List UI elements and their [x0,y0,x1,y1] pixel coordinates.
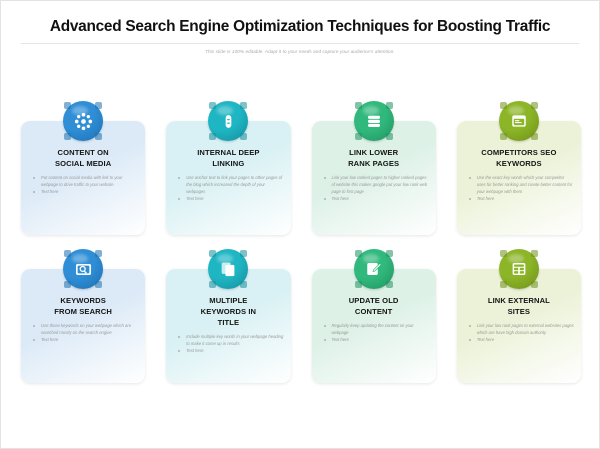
card-title-line: LINKING [173,158,283,169]
badge-glyph [208,101,248,141]
card-bullet-list: Use those keywords on your webpage which… [28,323,138,344]
card-title-line: INTERNAL DEEP [173,147,283,158]
card-bullet: Include multiple key words in your webpa… [176,334,283,348]
card-bullet: Text here [322,196,429,203]
card-title: UPDATE OLDCONTENT [319,295,429,317]
card-title: MULTIPLEKEYWORDS INTITLE [173,295,283,328]
card-bullet: Use those keywords on your webpage which… [31,323,138,337]
slide-header: Advanced Search Engine Optimization Tech… [1,1,599,54]
technique-cell: MULTIPLEKEYWORDS INTITLE Include multipl… [160,249,296,397]
card-bullet-list: Link your low ranked pages to higher ran… [319,175,429,203]
card-title-line: KEYWORDS [464,158,574,169]
social-network-icon[interactable] [63,101,103,141]
card-bullet-list: Regularly keep updating the content on y… [319,323,429,344]
external-site-icon[interactable] [499,249,539,289]
card-title-line: LINK EXTERNAL [464,295,574,306]
badge-glyph [63,101,103,141]
browser-window-icon[interactable] [499,101,539,141]
card-title-line: TITLE [173,317,283,328]
copy-documents-icon[interactable] [208,249,248,289]
badge-glyph [354,101,394,141]
technique-cell: KEYWORDSFROM SEARCH Use those keywords o… [15,249,151,397]
technique-cell: LINK LOWERRANK PAGES Link your low ranke… [306,101,442,249]
card-title-line: SITES [464,306,574,317]
header-divider [21,43,579,44]
slide-canvas: Advanced Search Engine Optimization Tech… [0,0,600,449]
chain-link-icon[interactable] [208,101,248,141]
card-title-line: MULTIPLE [173,295,283,306]
card-bullet-list: Use the exact key words which your compe… [464,175,574,203]
stacked-pages-icon[interactable] [354,101,394,141]
card-bullet-list: Link your low rank pages to external web… [464,323,574,344]
page-title: Advanced Search Engine Optimization Tech… [15,19,585,36]
technique-cell: LINK EXTERNALSITES Link your low rank pa… [451,249,587,397]
card-bullet: Text here [31,189,138,196]
card-title-line: KEYWORDS IN [173,306,283,317]
card-bullet: Use the exact key words which your compe… [467,175,574,196]
card-title: KEYWORDSFROM SEARCH [28,295,138,317]
card-title-line: FROM SEARCH [28,306,138,317]
badge-glyph [208,249,248,289]
technique-cell: CONTENT ONSOCIAL MEDIA Put content on so… [15,101,151,249]
card-title: LINK LOWERRANK PAGES [319,147,429,169]
card-bullet: Text here [322,337,429,344]
card-title: CONTENT ONSOCIAL MEDIA [28,147,138,169]
card-bullet: Text here [176,196,283,203]
card-title-line: CONTENT [319,306,429,317]
technique-card-grid: CONTENT ONSOCIAL MEDIA Put content on so… [15,101,587,397]
card-bullet: Link your low ranked pages to higher ran… [322,175,429,196]
card-bullet: Text here [176,348,283,355]
card-title-line: CONTENT ON [28,147,138,158]
card-title: INTERNAL DEEPLINKING [173,147,283,169]
card-bullet-list: Use anchor text to link your pages to ot… [173,175,283,203]
card-title-line: LINK LOWER [319,147,429,158]
card-title-line: SOCIAL MEDIA [28,158,138,169]
card-title-line: COMPETITORS SEO [464,147,574,158]
card-bullet: Regularly keep updating the content on y… [322,323,429,337]
card-title: COMPETITORS SEOKEYWORDS [464,147,574,169]
badge-glyph [63,249,103,289]
card-bullet: Put content on social media with link to… [31,175,138,189]
card-title-line: RANK PAGES [319,158,429,169]
technique-cell: COMPETITORS SEOKEYWORDS Use the exact ke… [451,101,587,249]
magnifier-screen-icon[interactable] [63,249,103,289]
card-bullet-list: Put content on social media with link to… [28,175,138,196]
pencil-edit-icon[interactable] [354,249,394,289]
slide-subtitle: This slide is 100% editable. Adapt it to… [15,49,585,54]
technique-cell: UPDATE OLDCONTENT Regularly keep updatin… [306,249,442,397]
card-title: LINK EXTERNALSITES [464,295,574,317]
badge-glyph [499,101,539,141]
card-bullet: Use anchor text to link your pages to ot… [176,175,283,196]
technique-cell: INTERNAL DEEPLINKING Use anchor text to … [160,101,296,249]
badge-glyph [499,249,539,289]
card-bullet: Text here [31,337,138,344]
badge-glyph [354,249,394,289]
card-title-line: UPDATE OLD [319,295,429,306]
card-bullet: Text here [467,337,574,344]
card-bullet-list: Include multiple key words in your webpa… [173,334,283,355]
card-title-line: KEYWORDS [28,295,138,306]
card-bullet: Text here [467,196,574,203]
card-bullet: Link your low rank pages to external web… [467,323,574,337]
